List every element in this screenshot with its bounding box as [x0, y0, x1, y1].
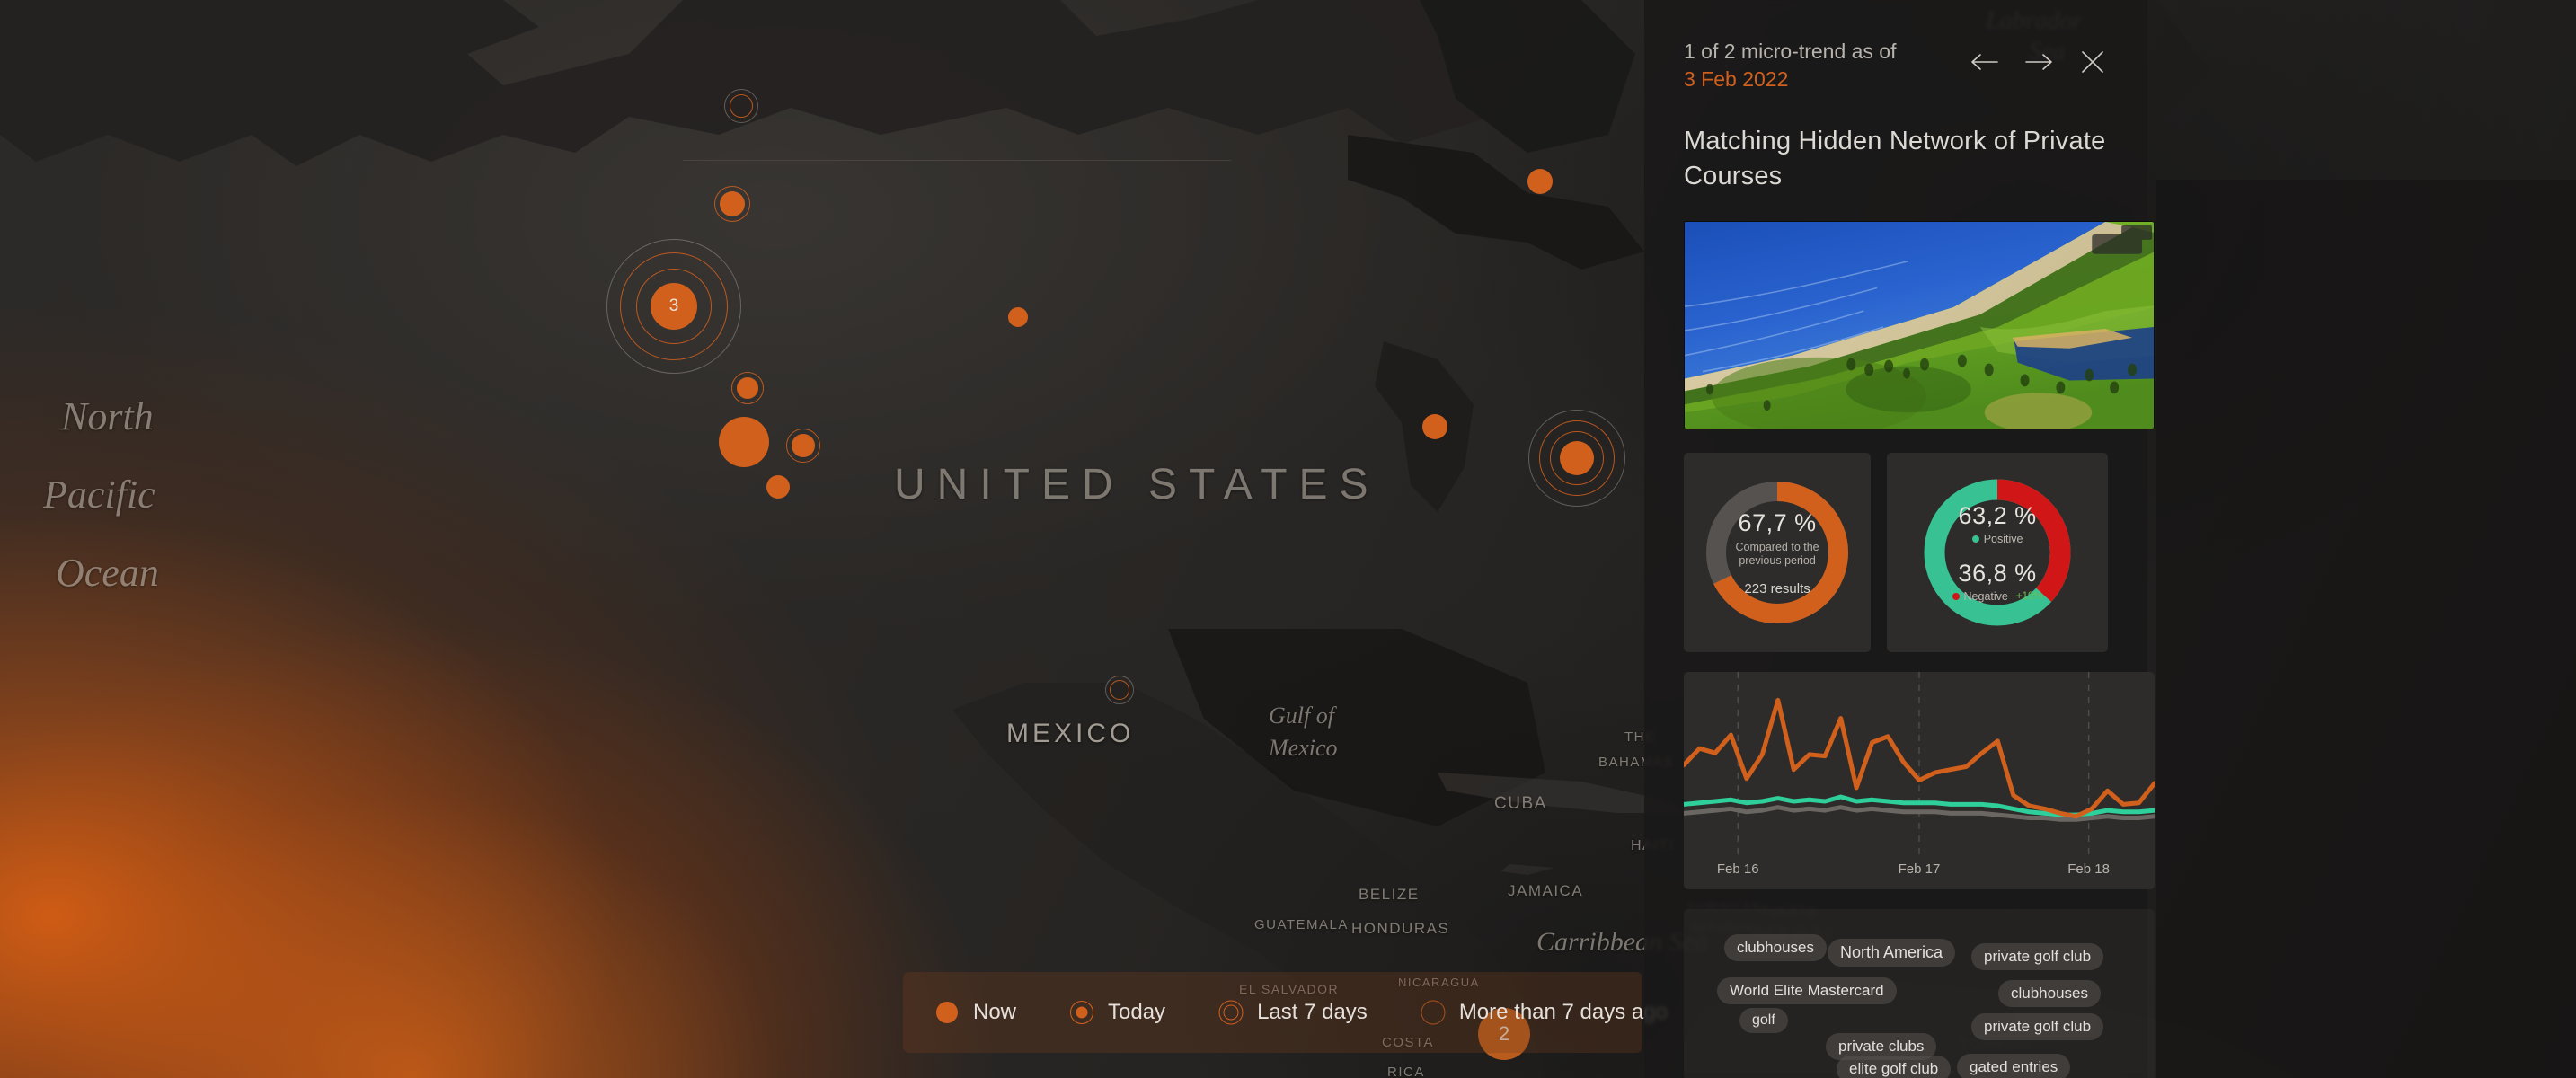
map-border-us-canada — [683, 160, 1222, 161]
filled-dot-icon — [934, 999, 960, 1026]
sentiment-negative-percent: 36,8 % — [1959, 560, 2037, 588]
legend-item-label: Now — [973, 1000, 1016, 1025]
hollow-ring-icon — [1420, 999, 1447, 1026]
sentiment-positive-label: Positive — [1984, 533, 2023, 545]
keyword-tag[interactable]: elite golf club — [1837, 1056, 1951, 1078]
keyword-tag[interactable]: private golf club — [1971, 943, 2103, 970]
volume-percent: 67,7 % — [1739, 509, 1817, 537]
legend-item-label: Last 7 days — [1257, 1000, 1368, 1025]
map-canvas[interactable]: NorthPacificOceanUNITED STATESMEXICOGulf… — [0, 0, 2576, 1078]
legend-item-now[interactable]: Now — [934, 999, 1016, 1026]
arrow-left-icon[interactable] — [1970, 47, 2000, 77]
map-landmasses — [0, 0, 2576, 1078]
marker-dot[interactable]: 3 — [651, 283, 697, 330]
positive-swatch-icon — [1972, 535, 1979, 543]
keyword-tag[interactable]: World Elite Mastercard — [1717, 977, 1897, 1004]
kpi-cards: 67,7 % Compared to the previous period 2… — [1684, 453, 2108, 652]
timeseries-chart — [1684, 672, 2155, 889]
volume-caption-line2: previous period — [1739, 554, 1815, 569]
sentiment-negative-delta: +19% — [2016, 591, 2043, 602]
keyword-tag-cloud[interactable]: clubhousesNorth Americaprivate golf club… — [1684, 909, 2155, 1078]
chart-x-tick: Feb 18 — [2067, 862, 2110, 877]
marker-dot[interactable] — [720, 191, 745, 216]
map-border-us-canada-east — [1222, 160, 1231, 161]
keyword-tag[interactable]: clubhouses — [1724, 934, 1827, 961]
sentiment-positive-legend: Positive — [1972, 533, 2023, 545]
close-icon[interactable] — [2077, 47, 2108, 77]
legend-item-label: More than 7 days ago — [1459, 1000, 1668, 1025]
app-root: NorthPacificOceanUNITED STATESMEXICOGulf… — [0, 0, 2576, 1078]
marker-dot[interactable] — [1008, 307, 1028, 327]
panel-header: 1 of 2 micro-trend as of 3 Feb 2022 — [1684, 38, 2108, 93]
sentiment-positive-percent: 63,2 % — [1959, 502, 2037, 530]
chart-x-tick: Feb 16 — [1717, 862, 1759, 877]
volume-donut-chart: 67,7 % Compared to the previous period 2… — [1697, 473, 1857, 632]
marker-dot[interactable] — [737, 377, 758, 399]
legend-item-today[interactable]: Today — [1068, 999, 1165, 1026]
trend-title: Matching Hidden Network of Private Cours… — [1684, 124, 2108, 194]
sentiment-negative-legend: Negative +19% — [1952, 590, 2043, 603]
time-filter-legend[interactable]: NowTodayLast 7 daysMore than 7 days ago — [903, 972, 1642, 1053]
panel-meta-date: 3 Feb 2022 — [1684, 66, 1897, 93]
sentiment-donut-card: 63,2 % Positive 36,8 % Negative +19% — [1887, 453, 2108, 652]
marker-dot[interactable] — [766, 475, 790, 499]
marker-dot[interactable] — [719, 417, 769, 467]
marker-dot[interactable] — [792, 434, 815, 457]
double-ring-icon — [1217, 999, 1244, 1026]
volume-results: 223 results — [1744, 581, 1810, 596]
marker-dot[interactable] — [1527, 169, 1553, 194]
dot-in-ring-icon — [1068, 999, 1095, 1026]
panel-nav-controls[interactable] — [1970, 38, 2108, 77]
volume-donut-card: 67,7 % Compared to the previous period 2… — [1684, 453, 1871, 652]
keyword-tag[interactable]: clubhouses — [1998, 980, 2101, 1007]
sentiment-negative-label: Negative — [1964, 590, 2008, 603]
keyword-tag[interactable]: gated entries — [1957, 1054, 2070, 1078]
panel-meta-prefix: 1 of 2 micro-trend as of — [1684, 40, 1897, 63]
negative-swatch-icon — [1952, 593, 1960, 600]
trend-hero-image — [1684, 221, 2155, 429]
marker-ring — [1105, 676, 1134, 704]
keyword-tag[interactable]: North America — [1828, 939, 1955, 967]
marker-ring — [724, 89, 758, 123]
legend-item-label: Today — [1108, 1000, 1165, 1025]
legend-item-last-7-days[interactable]: Last 7 days — [1217, 999, 1368, 1026]
marker-dot[interactable] — [1560, 441, 1594, 475]
timeseries-chart-card: Feb 16Feb 17Feb 18 — [1684, 672, 2155, 889]
sentiment-donut-chart: 63,2 % Positive 36,8 % Negative +19% — [1916, 471, 2079, 634]
marker-dot[interactable] — [1422, 414, 1447, 439]
arrow-right-icon[interactable] — [2023, 47, 2054, 77]
keyword-tag[interactable]: golf — [1739, 1008, 1788, 1033]
keyword-tag[interactable]: private golf club — [1971, 1013, 2103, 1040]
chart-x-tick: Feb 17 — [1899, 862, 1941, 877]
volume-caption-line1: Compared to the — [1736, 541, 1819, 555]
legend-item-more-than-7-days-ago[interactable]: More than 7 days ago — [1420, 999, 1668, 1026]
micro-trend-panel: 1 of 2 micro-trend as of 3 Feb 2022 Matc… — [1644, 0, 2147, 1078]
panel-meta: 1 of 2 micro-trend as of 3 Feb 2022 — [1684, 38, 1897, 93]
